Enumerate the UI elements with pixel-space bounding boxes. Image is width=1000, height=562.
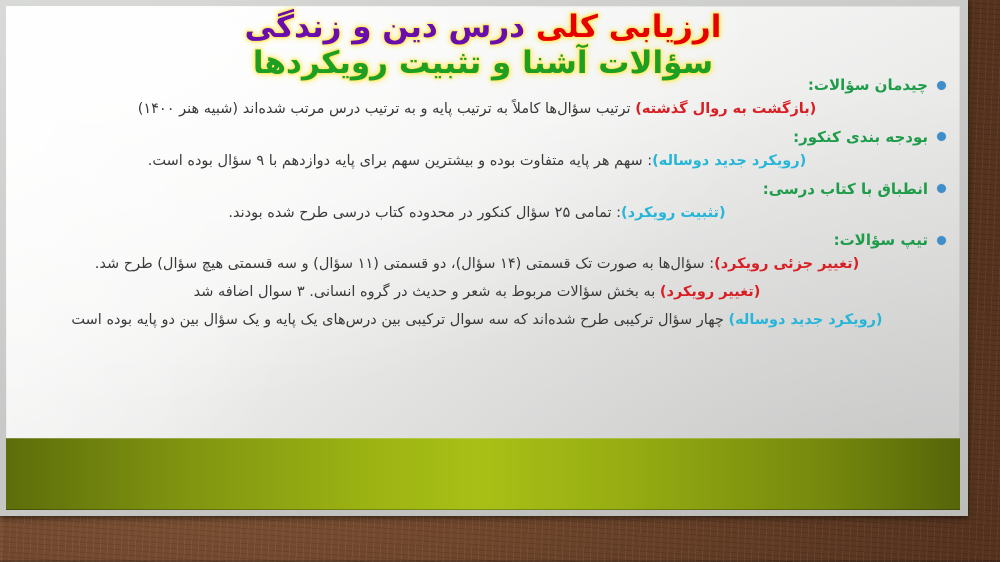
section-body-line: (تثبیت رویکرد): تمامی ۲۵ سؤال کنکور در م… — [16, 200, 946, 228]
bullet-dot-icon — [937, 81, 946, 90]
inline-label: (بازگشت به روال گذشته) — [635, 101, 816, 117]
section-heading-label: انطباق با کتاب درسی: — [763, 180, 928, 198]
section-body-line: (رویکرد جدید دوساله) چهار سؤال ترکیبی طر… — [16, 307, 946, 335]
slide-canvas: ارزیابی کلی درس دین و زندگی سؤالات آشنا … — [6, 6, 960, 510]
title-part-purple: درس دین و زندگی — [245, 9, 525, 45]
section-heading-row: چیدمان سؤالات: — [16, 74, 946, 96]
inline-label: (تغییر رویکرد) — [660, 284, 761, 300]
section-heading-label: بودجه بندی کنکور: — [793, 128, 928, 146]
bullet-dot-icon — [937, 236, 946, 245]
inline-text: : سهم هر پایه متفاوت بوده و بیشترین سهم … — [148, 153, 652, 169]
section-question-arrangement: چیدمان سؤالات: (بازگشت به روال گذشته) تر… — [16, 74, 946, 124]
section-heading-row: بودجه بندی کنکور: — [16, 126, 946, 148]
section-body-line: (رویکرد جدید دوساله): سهم هر پایه متفاوت… — [16, 148, 946, 176]
inline-text: چهار سؤال ترکیبی طرح شده‌اند که سه سوال … — [71, 312, 728, 328]
section-body-line: (تغییر جزئی رویکرد): سؤال‌ها به صورت تک … — [16, 251, 946, 279]
inline-text: ترتیب سؤال‌ها کاملاً به ترتیب پایه و به … — [138, 101, 636, 117]
section-heading-label: چیدمان سؤالات: — [808, 76, 928, 94]
slide-frame: ارزیابی کلی درس دین و زندگی سؤالات آشنا … — [0, 0, 968, 516]
slide-title: ارزیابی کلی درس دین و زندگی سؤالات آشنا … — [6, 10, 960, 81]
inline-label: (رویکرد جدید دوساله) — [728, 312, 882, 328]
section-heading-row: انطباق با کتاب درسی: — [16, 178, 946, 200]
inline-label: (تثبیت رویکرد) — [621, 205, 726, 221]
section-question-types: تیپ سؤالات: (تغییر جزئی رویکرد): سؤال‌ها… — [16, 229, 946, 334]
inline-label: (رویکرد جدید دوساله) — [652, 153, 806, 169]
inline-label: (تغییر جزئی رویکرد) — [714, 256, 859, 272]
bullet-dot-icon — [937, 184, 946, 193]
section-heading-label: تیپ سؤالات: — [834, 231, 928, 249]
slide-body-content: چیدمان سؤالات: (بازگشت به روال گذشته) تر… — [16, 74, 946, 337]
inline-text: : سؤال‌ها به صورت تک قسمتی (۱۴ سؤال)، دو… — [95, 256, 714, 272]
section-heading-row: تیپ سؤالات: — [16, 229, 946, 251]
bullet-dot-icon — [937, 132, 946, 141]
section-body-line: (بازگشت به روال گذشته) ترتیب سؤال‌ها کام… — [16, 96, 946, 124]
inline-text: به بخش سؤالات مربوط به شعر و حدیث در گرو… — [194, 284, 660, 300]
title-part-red: ارزیابی کلی — [525, 9, 721, 45]
slide-footer-band — [6, 438, 960, 510]
inline-text: : تمامی ۲۵ سؤال کنکور در محدوده کتاب درس… — [228, 205, 621, 221]
section-textbook-alignment: انطباق با کتاب درسی: (تثبیت رویکرد): تما… — [16, 178, 946, 228]
section-body-line: (تغییر رویکرد) به بخش سؤالات مربوط به شع… — [16, 279, 946, 307]
section-exam-budgeting: بودجه بندی کنکور: (رویکرد جدید دوساله): … — [16, 126, 946, 176]
title-line-1: ارزیابی کلی درس دین و زندگی — [6, 10, 960, 46]
